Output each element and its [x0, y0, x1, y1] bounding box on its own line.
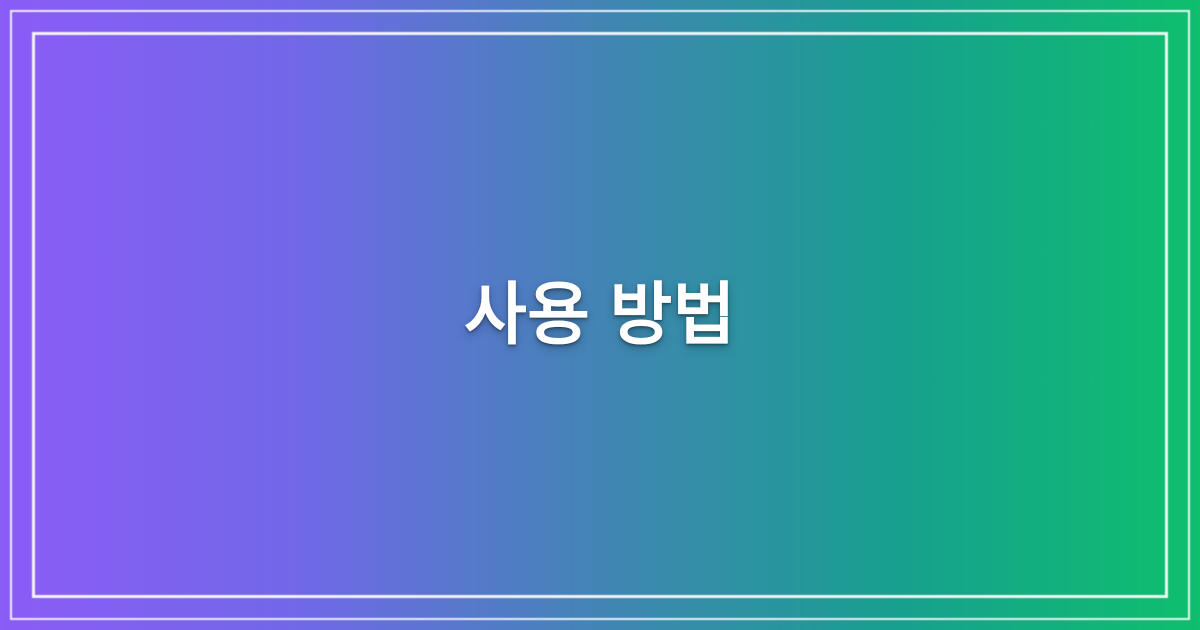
page-title: 사용 방법 — [464, 273, 736, 358]
banner-card: 사용 방법 — [0, 0, 1200, 630]
banner-content: 사용 방법 — [0, 0, 1200, 630]
